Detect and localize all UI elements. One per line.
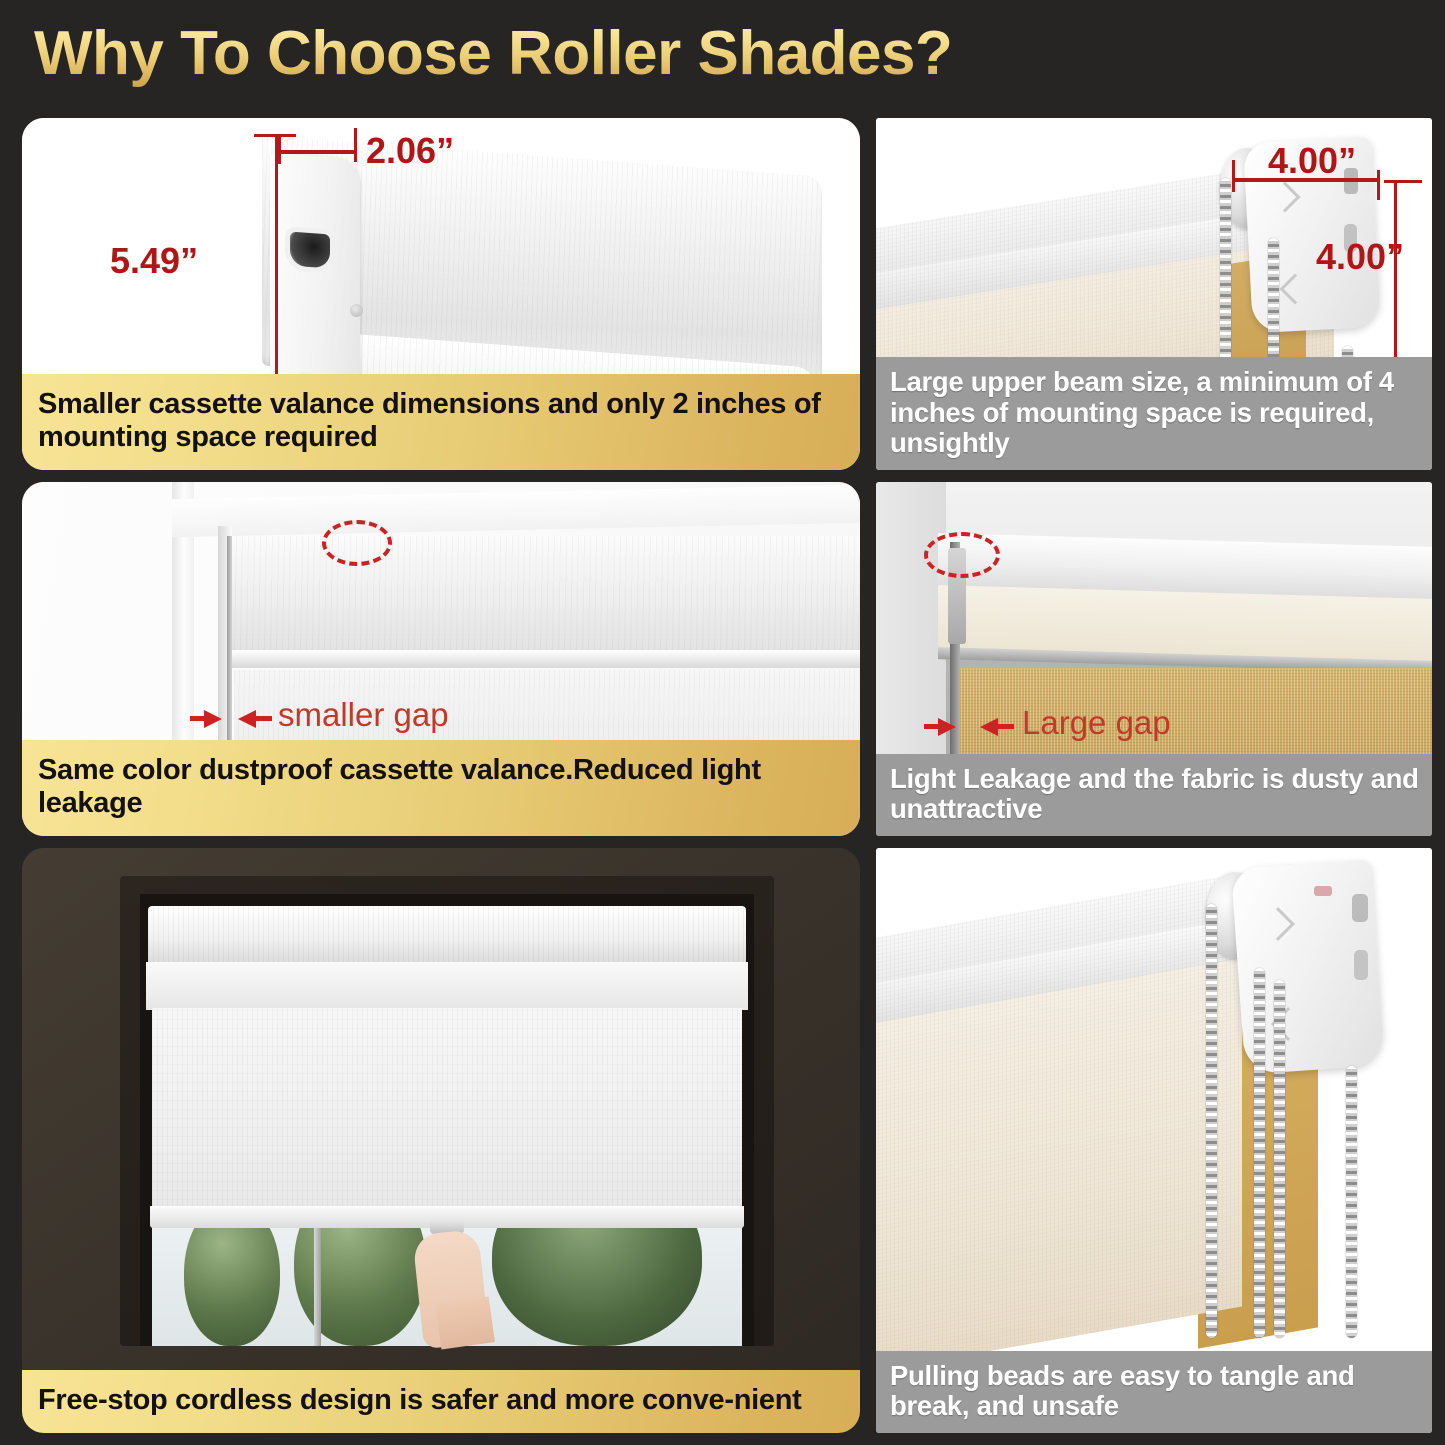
beam-width-label: 4.00” <box>1268 140 1356 182</box>
bead-chain-middle-a <box>1254 968 1265 1338</box>
shade-valance-lip <box>146 962 748 1010</box>
height-dimension-label: 5.49” <box>110 240 198 282</box>
bead-chain-middle-b <box>1274 980 1285 1338</box>
shade-headrail-texture <box>148 906 746 966</box>
gap-arrow-right-stem <box>254 716 272 721</box>
leak-highlight-circle <box>924 532 1000 578</box>
bracket-slot-pink <box>1314 886 1332 896</box>
screw-small-icon <box>350 304 363 317</box>
comparison-grid: 2.06” 5.49” Smaller cassette valance dim… <box>0 108 1445 1445</box>
gap-arrow-left-stem <box>190 716 206 721</box>
smaller-gap-label: smaller gap <box>278 696 449 734</box>
valance-end-cap <box>270 153 360 390</box>
beam-width-tick-left <box>1232 160 1235 192</box>
panel-smaller-cassette: 2.06” 5.49” Smaller cassette valance dim… <box>22 118 860 470</box>
cord-slot <box>290 232 330 269</box>
page-title: Why To Choose Roller Shades? <box>34 18 952 89</box>
window-frame-top <box>172 485 860 537</box>
panel-3-caption: Same color dustproof cassette valance.Re… <box>22 740 860 836</box>
gap-arrow-left-icon <box>204 710 222 728</box>
title-bar: Why To Choose Roller Shades? <box>0 0 1445 108</box>
height-dim-tick-top <box>254 134 296 137</box>
panel-light-leakage: Large gap Light Leakage and the fabric i… <box>876 482 1432 836</box>
panel-4-caption: Light Leakage and the fabric is dusty an… <box>876 754 1432 837</box>
gap-arrow-left-stem <box>924 724 940 729</box>
panel-2-caption: Large upper beam size, a minimum of 4 in… <box>876 357 1432 470</box>
panel-cordless-design: Free-stop cordless design is safer and m… <box>22 848 860 1433</box>
gap-highlight-circle <box>322 520 392 566</box>
large-gap-label: Large gap <box>1022 704 1171 742</box>
bead-chain-right <box>1346 1066 1357 1338</box>
panel-large-beam: 4.00” 4.00” Large upper beam size, a min… <box>876 118 1432 470</box>
panel-pulling-beads: Pulling beads are easy to tangle and bre… <box>876 848 1432 1433</box>
valance-face-texture <box>230 536 860 654</box>
gap-arrow-left-icon <box>938 718 956 736</box>
panel-5-caption: Free-stop cordless design is safer and m… <box>22 1370 860 1433</box>
gap-line <box>227 536 232 770</box>
depth-dim-line <box>278 150 356 154</box>
depth-dim-tick-left <box>278 134 281 164</box>
bracket-notch-mid <box>1354 950 1368 980</box>
panel-1-caption: Smaller cassette valance dimensions and … <box>22 374 860 470</box>
forearm <box>435 1296 495 1349</box>
panel-dustproof-valance: smaller gap Same color dustproof cassett… <box>22 482 860 836</box>
valance-bottom-lip <box>230 650 860 668</box>
panel-6-caption: Pulling beads are easy to tangle and bre… <box>876 1351 1432 1434</box>
depth-dimension-label: 2.06” <box>366 130 454 172</box>
panel-5-photo <box>22 848 860 1433</box>
gap-arrow-right-stem <box>996 724 1014 729</box>
beam-width-tick-right <box>1377 170 1380 200</box>
beam-height-tick-top <box>1384 180 1422 183</box>
beam-height-label: 4.00” <box>1316 236 1404 278</box>
bead-chain-left <box>1206 904 1217 1338</box>
shade-fabric-texture <box>152 1008 742 1218</box>
panel-6-photo <box>876 848 1432 1433</box>
depth-dim-tick-right <box>354 128 357 162</box>
bracket-notch-top <box>1352 894 1368 922</box>
